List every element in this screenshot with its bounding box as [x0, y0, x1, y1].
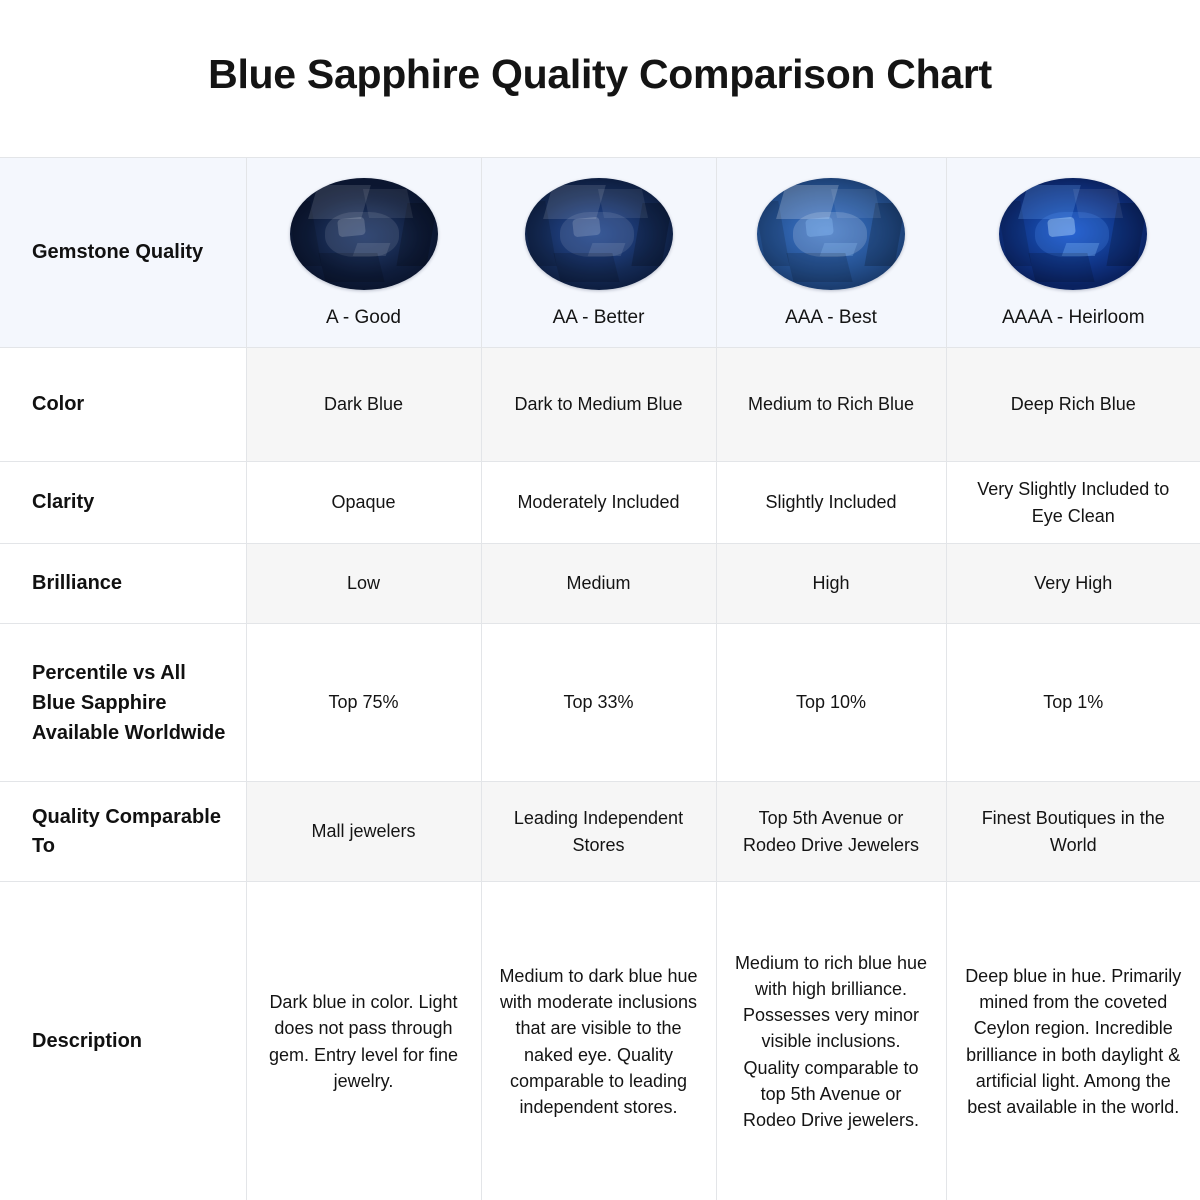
cell-percentile-a: Top 75%: [246, 624, 481, 782]
cell-brilliance-a: Low: [246, 544, 481, 624]
sapphire-aaa-best-icon: [757, 178, 905, 290]
table-row-comparable: Quality Comparable To Mall jewelers Lead…: [0, 782, 1200, 882]
row-label-gemstone-quality: Gemstone Quality: [0, 158, 246, 348]
gem-label-aaaa: AAAA - Heirloom: [1002, 306, 1145, 331]
cell-clarity-a: Opaque: [246, 462, 481, 544]
cell-brilliance-aaa: High: [716, 544, 946, 624]
sapphire-aaaa-heirloom-icon: [999, 178, 1147, 290]
sapphire-a-good-icon: [290, 178, 438, 290]
row-label-color: Color: [0, 348, 246, 462]
description-text-aaa: Medium to rich blue hue with high brilli…: [733, 950, 930, 1134]
gem-cell-aaa: AAA - Best: [716, 158, 946, 348]
cell-clarity-aaaa: Very Slightly Included to Eye Clean: [946, 462, 1200, 544]
cell-description-aaaa: Deep blue in hue. Primarily mined from t…: [946, 882, 1200, 1200]
page-title: Blue Sapphire Quality Comparison Chart: [208, 51, 992, 106]
cell-clarity-aa: Moderately Included: [481, 462, 716, 544]
gem-label-a: A - Good: [326, 306, 401, 331]
description-text-a: Dark blue in color. Light does not pass …: [263, 989, 465, 1094]
cell-percentile-aaaa: Top 1%: [946, 624, 1200, 782]
cell-description-a: Dark blue in color. Light does not pass …: [246, 882, 481, 1200]
sapphire-aa-better-icon: [525, 178, 673, 290]
cell-description-aaa: Medium to rich blue hue with high brilli…: [716, 882, 946, 1200]
cell-description-aa: Medium to dark blue hue with moderate in…: [481, 882, 716, 1200]
description-text-aa: Medium to dark blue hue with moderate in…: [498, 963, 700, 1121]
row-label-comparable: Quality Comparable To: [0, 782, 246, 882]
cell-comparable-aaa: Top 5th Avenue or Rodeo Drive Jewelers: [716, 782, 946, 882]
title-container: Blue Sapphire Quality Comparison Chart: [0, 0, 1200, 157]
gem-label-aaa: AAA - Best: [785, 306, 877, 331]
gem-cell-aa: AA - Better: [481, 158, 716, 348]
quality-comparison-table: Gemstone Quality A - Good: [0, 157, 1200, 1200]
cell-percentile-aaa: Top 10%: [716, 624, 946, 782]
cell-color-aaa: Medium to Rich Blue: [716, 348, 946, 462]
cell-color-aa: Dark to Medium Blue: [481, 348, 716, 462]
description-text-aaaa: Deep blue in hue. Primarily mined from t…: [963, 963, 1185, 1121]
cell-comparable-a: Mall jewelers: [246, 782, 481, 882]
cell-percentile-aa: Top 33%: [481, 624, 716, 782]
cell-comparable-aaaa: Finest Boutiques in the World: [946, 782, 1200, 882]
gem-cell-a: A - Good: [246, 158, 481, 348]
cell-brilliance-aa: Medium: [481, 544, 716, 624]
row-label-clarity: Clarity: [0, 462, 246, 544]
row-label-brilliance: Brilliance: [0, 544, 246, 624]
cell-color-aaaa: Deep Rich Blue: [946, 348, 1200, 462]
table-row-color: Color Dark Blue Dark to Medium Blue Medi…: [0, 348, 1200, 462]
table-row-clarity: Clarity Opaque Moderately Included Sligh…: [0, 462, 1200, 544]
cell-color-a: Dark Blue: [246, 348, 481, 462]
row-label-percentile: Percentile vs All Blue Sapphire Availabl…: [0, 624, 246, 782]
cell-clarity-aaa: Slightly Included: [716, 462, 946, 544]
comparison-chart-page: Blue Sapphire Quality Comparison Chart G…: [0, 0, 1200, 1200]
table-row-percentile: Percentile vs All Blue Sapphire Availabl…: [0, 624, 1200, 782]
cell-comparable-aa: Leading Independent Stores: [481, 782, 716, 882]
table-row-gemstone-quality: Gemstone Quality A - Good: [0, 158, 1200, 348]
gem-cell-aaaa: AAAA - Heirloom: [946, 158, 1200, 348]
table-row-brilliance: Brilliance Low Medium High Very High: [0, 544, 1200, 624]
row-label-description: Description: [0, 882, 246, 1200]
cell-brilliance-aaaa: Very High: [946, 544, 1200, 624]
table-row-description: Description Dark blue in color. Light do…: [0, 882, 1200, 1200]
gem-label-aa: AA - Better: [553, 306, 645, 331]
